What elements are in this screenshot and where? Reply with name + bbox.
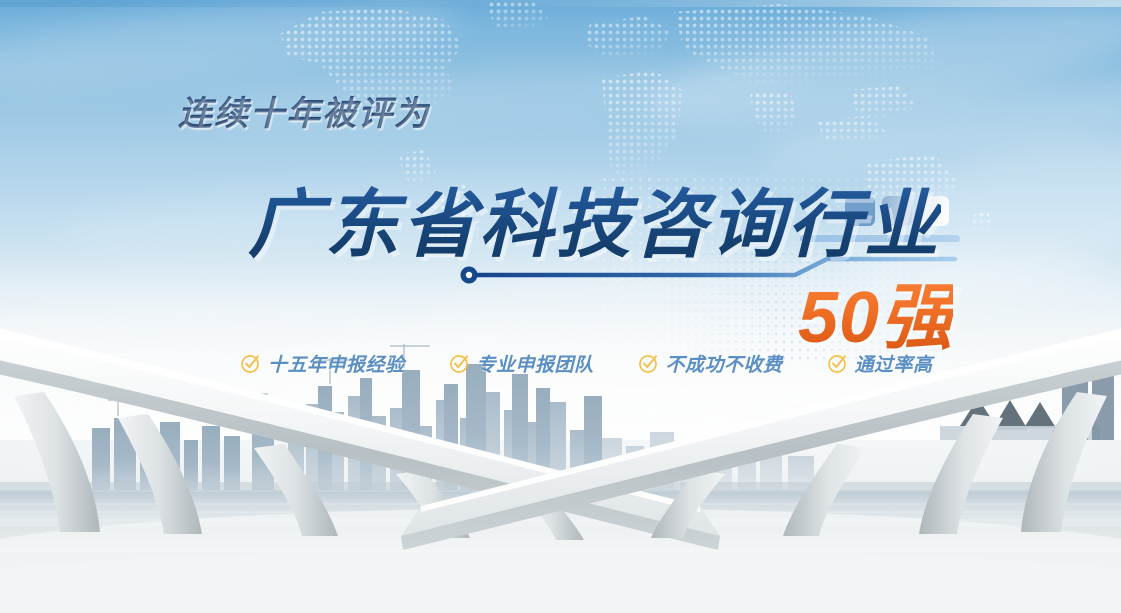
feature-item: 十五年申报经验 <box>240 350 405 377</box>
page-title: 广东省科技咨询行业 <box>248 165 941 272</box>
feature-item: 通过率高 <box>827 350 933 377</box>
feature-label: 专业申报团队 <box>477 350 594 377</box>
check-circle-icon <box>240 353 261 374</box>
award-badge: 50强 <box>798 258 953 363</box>
feature-item: 不成功不收费 <box>638 350 783 377</box>
kicker-text: 连续十年被评为 <box>178 86 430 135</box>
promo-banner: 连续十年被评为 连续十年被评为 广东省科技咨询行业 广东省科技咨询行业 50强 … <box>0 0 1121 613</box>
feature-label: 不成功不收费 <box>666 350 783 377</box>
feature-label: 十五年申报经验 <box>268 350 405 377</box>
feature-label: 通过率高 <box>855 350 933 377</box>
check-circle-icon <box>827 353 848 374</box>
feature-item: 专业申报团队 <box>449 350 594 377</box>
check-circle-icon <box>638 353 659 374</box>
check-circle-icon <box>449 353 470 374</box>
feature-list: 十五年申报经验 专业申报团队 不成功不收费 <box>240 350 933 377</box>
